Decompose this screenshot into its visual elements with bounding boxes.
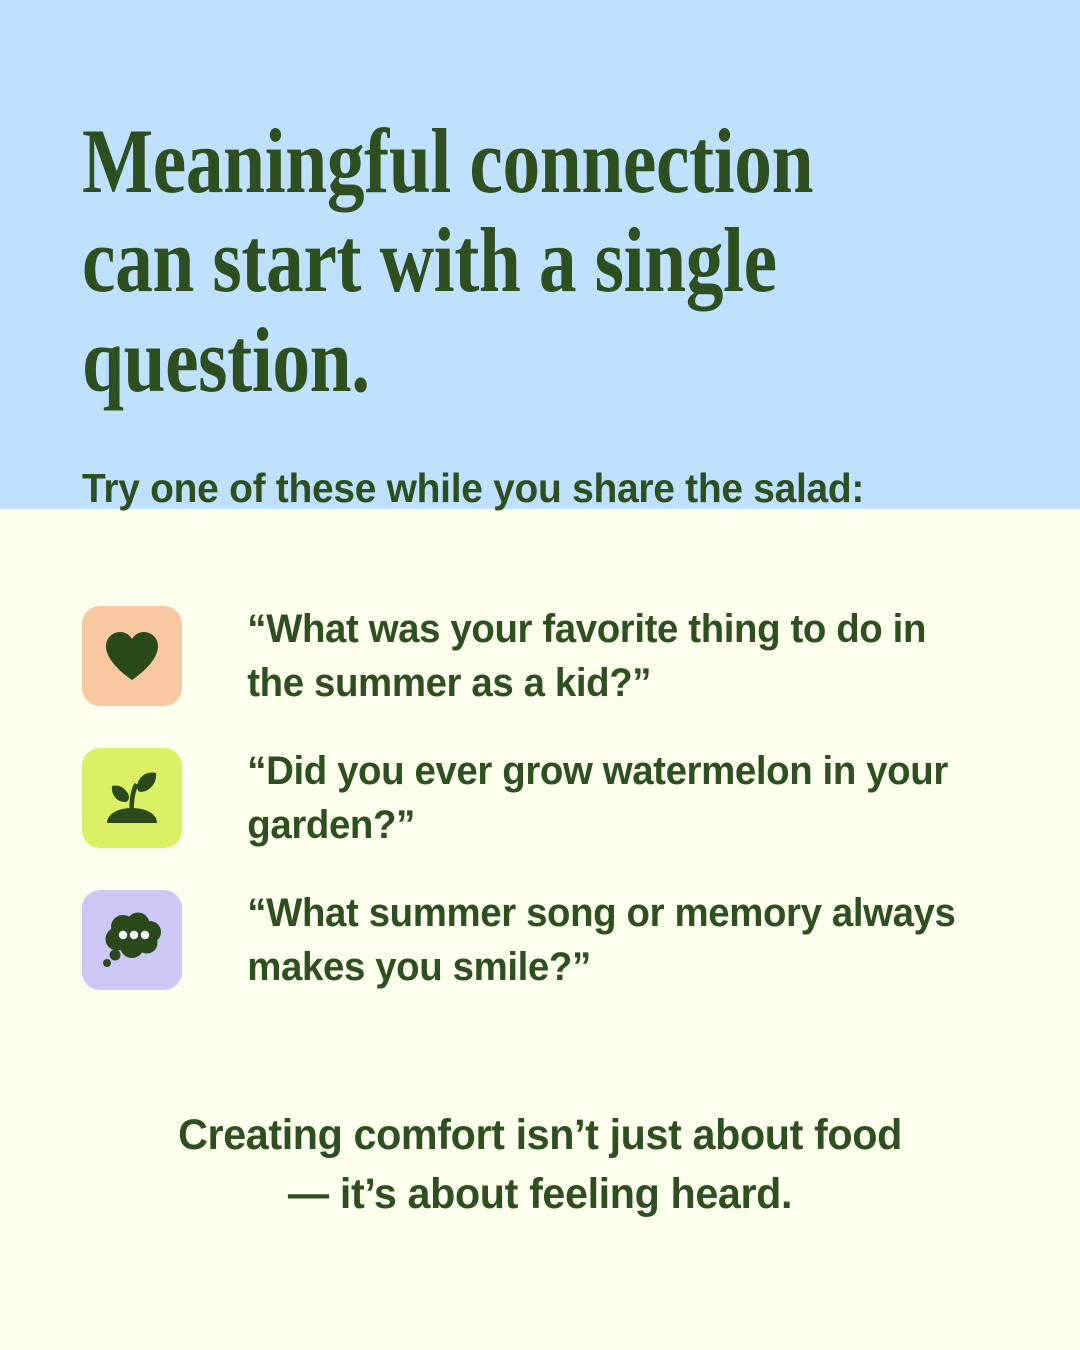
icon-tile-heart <box>82 606 182 706</box>
header-subtitle: Try one of these while you share the sal… <box>82 410 952 513</box>
list-item: “What was your favorite thing to do in t… <box>82 602 998 711</box>
header-band: Meaningful connection can start with a s… <box>0 0 1080 509</box>
icon-tile-seedling <box>82 748 182 848</box>
prompt-text: “What summer song or memory always makes… <box>182 886 965 995</box>
seedling-icon <box>101 769 163 827</box>
prompt-text: “What was your favorite thing to do in t… <box>182 602 965 711</box>
list-item: “What summer song or memory always makes… <box>82 886 998 995</box>
icon-tile-thought-bubble <box>82 890 182 990</box>
prompt-text: “Did you ever grow watermelon in your ga… <box>182 744 965 853</box>
poster-canvas: Meaningful connection can start with a s… <box>0 0 1080 1350</box>
page-title: Meaningful connection can start with a s… <box>82 0 833 410</box>
prompt-list: “What was your favorite thing to do in t… <box>82 509 998 994</box>
heart-icon <box>104 630 160 682</box>
list-item: “Did you ever grow watermelon in your ga… <box>82 744 998 853</box>
closing-statement: Creating comfort isn’t just about food —… <box>100 994 979 1223</box>
body-area: “What was your favorite thing to do in t… <box>0 509 1080 1350</box>
thought-bubble-icon <box>100 910 164 970</box>
